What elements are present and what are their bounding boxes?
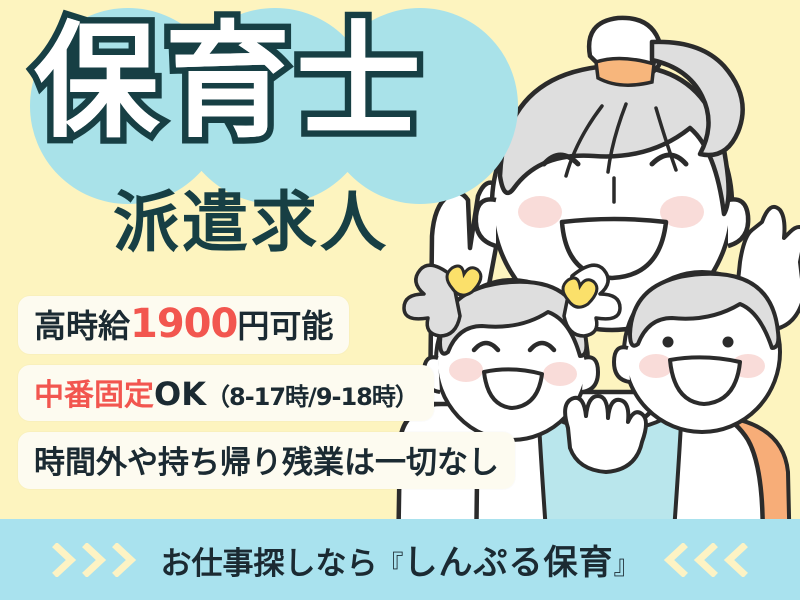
page-subtitle: 派遣求人: [113, 190, 389, 256]
banner-brand: しんぷる保育: [404, 543, 614, 583]
poster-root: 保育士 保育士 派遣求人 高時給1900円可能 中番固定OK（8-17時/9-1…: [0, 0, 800, 600]
page-title: 保育士: [34, 20, 427, 145]
badge-row-shift: 中番固定OK（8-17時/9-18時）: [18, 365, 515, 432]
banner-text: お仕事探しなら『しんぷる保育』: [160, 535, 639, 584]
badge-shift-highlight: 中番固定: [34, 378, 154, 413]
badge-wage-suffix: 円可能: [237, 307, 333, 345]
banner-open-bracket: 『: [377, 551, 403, 581]
badge-shift-detail: （8-17時/9-18時）: [206, 383, 418, 411]
badge-overtime: 時間外や持ち帰り残業は一切なし: [18, 432, 515, 489]
bottom-banner: お仕事探しなら『しんぷる保育』: [0, 519, 800, 600]
badge-wage-prefix: 高時給: [34, 307, 130, 345]
chevron-left-group-icon: [662, 543, 748, 577]
badge-wage-amount: 1900: [130, 301, 237, 347]
banner-lead: お仕事探しなら: [160, 546, 377, 582]
badge-row-wage: 高時給1900円可能: [18, 296, 515, 365]
banner-close-bracket: 』: [614, 551, 640, 581]
badge-wage: 高時給1900円可能: [18, 296, 349, 354]
feature-badge-list: 高時給1900円可能 中番固定OK（8-17時/9-18時） 時間外や持ち帰り残…: [18, 296, 515, 500]
badge-row-overtime: 時間外や持ち帰り残業は一切なし: [18, 432, 515, 500]
chevron-right-group-icon: [52, 543, 138, 577]
badge-shift: 中番固定OK（8-17時/9-18時）: [18, 365, 434, 421]
badge-shift-ok: OK: [154, 375, 206, 413]
